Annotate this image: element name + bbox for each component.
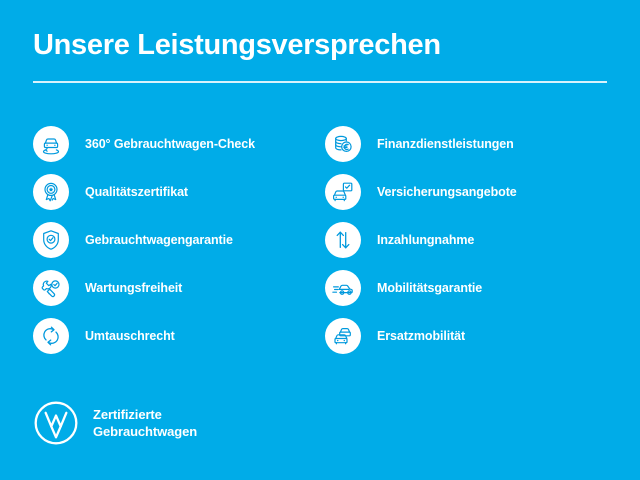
promises-column-left: 360° Gebrauchtwagen-Check Qualitätszerti… [33,120,325,360]
promise-item-umtauschrecht[interactable]: Umtauschrecht [33,312,325,360]
promise-item-qualitaetszertifikat[interactable]: Qualitätszertifikat [33,168,325,216]
car-360-check-icon [33,126,69,162]
brand-lockup: Zertifizierte Gebrauchtwagen [33,400,197,446]
promise-item-wartungsfreiheit[interactable]: Wartungsfreiheit [33,264,325,312]
exchange-arrows-icon [33,318,69,354]
title-divider [33,81,607,83]
promise-item-finanzdienstleistungen[interactable]: Finanzdienstleistungen [325,120,607,168]
two-cars-icon [325,318,361,354]
promise-item-gebrauchtwagen-check[interactable]: 360° Gebrauchtwagen-Check [33,120,325,168]
promise-label: Umtauschrecht [85,329,175,343]
promise-label: Versicherungsangebote [377,185,517,199]
promise-item-inzahlungnahme[interactable]: Inzahlungnahme [325,216,607,264]
brand-text: Zertifizierte Gebrauchtwagen [93,406,197,440]
coins-euro-icon [325,126,361,162]
promise-label: Gebrauchtwagengarantie [85,233,233,247]
award-rosette-icon [33,174,69,210]
shield-check-icon [33,222,69,258]
promise-label: Qualitätszertifikat [85,185,188,199]
wrench-check-icon [33,270,69,306]
car-clipboard-icon [325,174,361,210]
brand-line-2: Gebrauchtwagen [93,423,197,440]
promise-item-gebrauchtwagengarantie[interactable]: Gebrauchtwagengarantie [33,216,325,264]
promise-label: Ersatzmobilität [377,329,465,343]
promise-label: Wartungsfreiheit [85,281,182,295]
promise-label: 360° Gebrauchtwagen-Check [85,137,255,151]
promise-item-mobilitaetsgarantie[interactable]: Mobilitätsgarantie [325,264,607,312]
promises-grid: 360° Gebrauchtwagen-Check Qualitätszerti… [0,120,640,360]
promise-item-ersatzmobilitaet[interactable]: Ersatzmobilität [325,312,607,360]
promise-item-versicherungsangebote[interactable]: Versicherungsangebote [325,168,607,216]
car-motion-icon [325,270,361,306]
brand-line-1: Zertifizierte [93,406,197,423]
header: Unsere Leistungsversprechen [33,28,607,83]
promise-label: Inzahlungnahme [377,233,474,247]
promise-label: Finanzdienstleistungen [377,137,514,151]
up-down-arrows-icon [325,222,361,258]
promises-poster: Unsere Leistungsversprechen 360° Gebrauc [0,0,640,480]
promises-column-right: Finanzdienstleistungen Versicherungsange… [325,120,607,360]
vw-logo-icon [33,400,79,446]
promise-label: Mobilitätsgarantie [377,281,482,295]
page-title: Unsere Leistungsversprechen [33,28,607,62]
